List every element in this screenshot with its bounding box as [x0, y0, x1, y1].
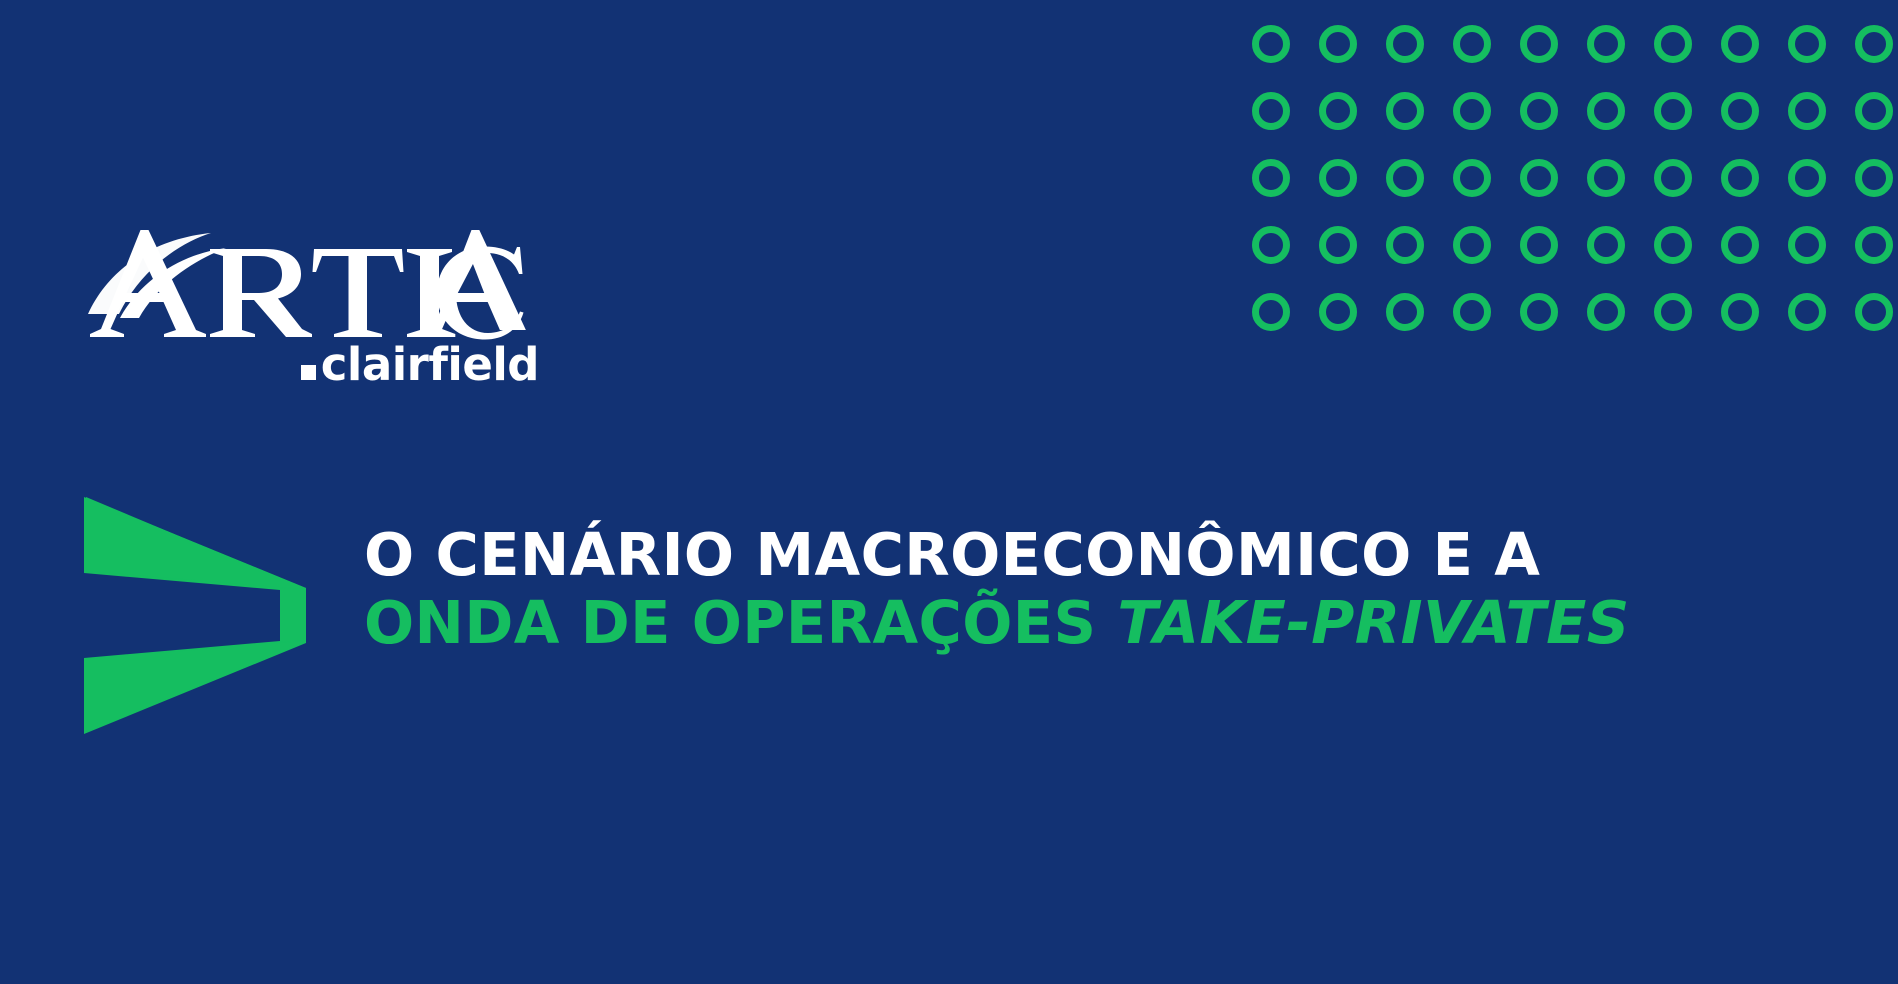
pattern-ring — [1386, 25, 1424, 63]
ring-pattern-decor — [1252, 0, 1898, 308]
pattern-ring — [1587, 159, 1625, 197]
chevron-right-icon — [84, 495, 308, 735]
clairfield-sub-brand: clairfield — [86, 342, 541, 387]
brand-logo: clairfield — [86, 222, 546, 402]
pattern-ring — [1654, 226, 1692, 264]
pattern-ring — [1319, 92, 1357, 130]
pattern-ring — [1386, 92, 1424, 130]
pattern-ring — [1319, 159, 1357, 197]
pattern-ring — [1587, 293, 1625, 331]
pattern-ring — [1252, 25, 1290, 63]
pattern-ring — [1520, 25, 1558, 63]
pattern-ring — [1386, 226, 1424, 264]
pattern-ring — [1788, 25, 1826, 63]
pattern-ring — [1520, 293, 1558, 331]
clairfield-label: clairfield — [321, 338, 539, 391]
pattern-ring — [1252, 159, 1290, 197]
pattern-ring — [1319, 293, 1357, 331]
pattern-ring — [1788, 226, 1826, 264]
pattern-ring — [1788, 293, 1826, 331]
pattern-ring — [1453, 25, 1491, 63]
pattern-ring — [1520, 92, 1558, 130]
headline-line-2-italic: TAKE-PRIVATES — [1117, 588, 1629, 657]
pattern-ring — [1386, 159, 1424, 197]
pattern-ring — [1453, 92, 1491, 130]
pattern-ring — [1855, 159, 1893, 197]
pattern-ring — [1855, 293, 1893, 331]
pattern-ring — [1319, 226, 1357, 264]
slide-canvas: clairfield O CENÁRIO MACROECONÔMICO E A … — [0, 0, 1898, 984]
pattern-ring — [1252, 226, 1290, 264]
pattern-ring — [1721, 25, 1759, 63]
pattern-ring — [1319, 25, 1357, 63]
square-dot-icon — [301, 365, 316, 380]
pattern-ring — [1855, 25, 1893, 63]
headline-line-2: ONDA DE OPERAÇÕES TAKE-PRIVATES — [364, 589, 1814, 657]
pattern-ring — [1654, 92, 1692, 130]
pattern-ring — [1587, 92, 1625, 130]
pattern-ring — [1252, 92, 1290, 130]
pattern-ring — [1788, 159, 1826, 197]
pattern-ring — [1654, 293, 1692, 331]
pattern-ring — [1855, 226, 1893, 264]
pattern-ring — [1721, 226, 1759, 264]
pattern-ring — [1587, 226, 1625, 264]
pattern-ring — [1520, 159, 1558, 197]
headline-line-2-upright: ONDA DE OPERAÇÕES — [364, 588, 1117, 657]
pattern-ring — [1453, 293, 1491, 331]
pattern-ring — [1587, 25, 1625, 63]
pattern-ring — [1855, 92, 1893, 130]
headline-block: O CENÁRIO MACROECONÔMICO E A ONDA DE OPE… — [364, 521, 1814, 658]
pattern-ring — [1252, 293, 1290, 331]
pattern-ring — [1721, 293, 1759, 331]
headline-line-1: O CENÁRIO MACROECONÔMICO E A — [364, 521, 1814, 589]
pattern-ring — [1721, 159, 1759, 197]
pattern-ring — [1453, 226, 1491, 264]
pattern-ring — [1520, 226, 1558, 264]
pattern-ring — [1654, 25, 1692, 63]
pattern-ring — [1386, 293, 1424, 331]
pattern-ring — [1654, 159, 1692, 197]
artica-wordmark-icon — [86, 222, 541, 344]
pattern-ring — [1788, 92, 1826, 130]
pattern-ring — [1721, 92, 1759, 130]
pattern-ring — [1453, 159, 1491, 197]
